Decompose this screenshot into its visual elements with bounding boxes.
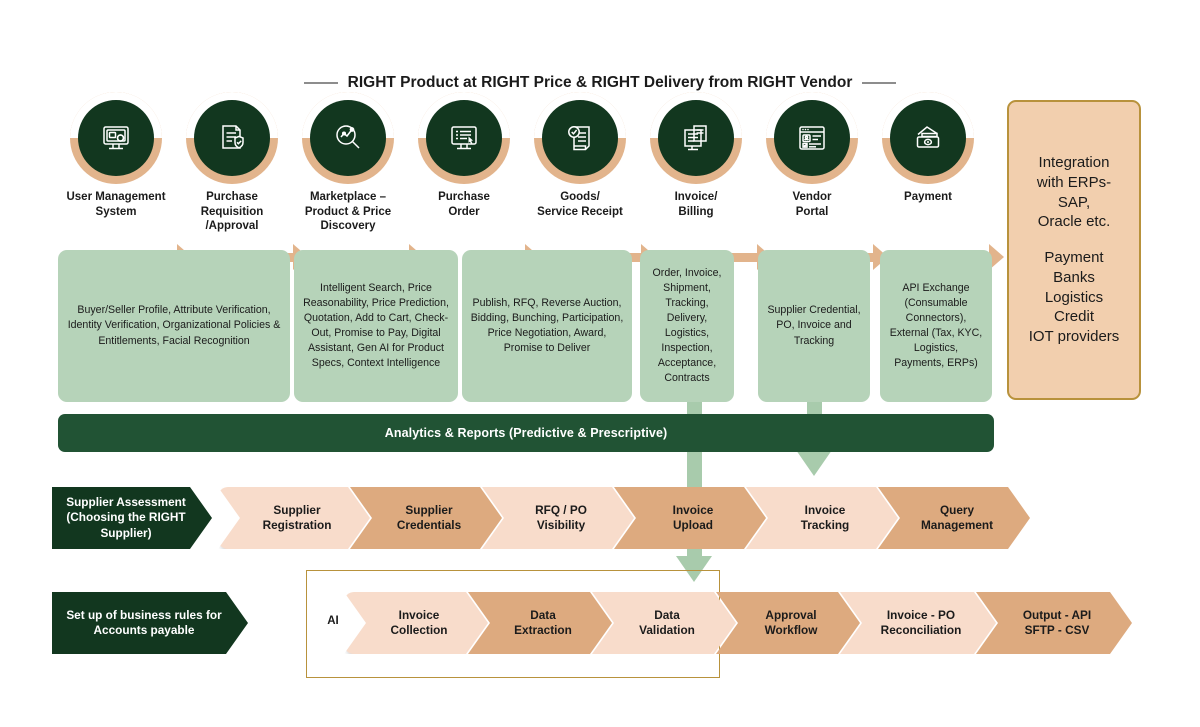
- chevron-label: ApprovalWorkflow: [716, 608, 860, 639]
- headline-banner: RIGHT Product at RIGHT Price & RIGHT Del…: [318, 72, 882, 94]
- chevron-label: SupplierRegistration: [218, 503, 370, 534]
- supplier-step-credentials[interactable]: SupplierCredentials: [350, 487, 502, 549]
- supplier-step-rfq-po-visibility[interactable]: RFQ / POVisibility: [482, 487, 634, 549]
- chevron-label: Invoice - POReconciliation: [840, 608, 996, 639]
- process-step-invoice-billing[interactable]: Invoice/Billing: [638, 100, 754, 219]
- integration-services-text: PaymentBanksLogisticsCreditIOT providers: [1029, 248, 1120, 347]
- chevron-label: RFQ / POVisibility: [482, 503, 634, 534]
- step-icon-disc: [426, 100, 502, 176]
- step-label: Invoice/Billing: [638, 190, 754, 219]
- process-step-goods-service-receipt[interactable]: Goods/Service Receipt: [522, 100, 638, 219]
- invoice-monitor-icon: [658, 100, 734, 176]
- checklist-shield-icon: [194, 100, 270, 176]
- process-step-payment[interactable]: Payment: [870, 100, 986, 205]
- portal-profile-icon: [774, 100, 850, 176]
- step-icon-disc: [774, 100, 850, 176]
- chevron-label: InvoiceTracking: [746, 503, 898, 534]
- step-label: PurchaseRequisition/Approval: [174, 190, 290, 234]
- banner-text: RIGHT Product at RIGHT Price & RIGHT Del…: [348, 74, 853, 92]
- capability-box-api-exchange: API Exchange (Consumable Connectors), Ex…: [880, 250, 992, 402]
- chevron-label: InvoiceUpload: [614, 503, 766, 534]
- process-step-vendor-portal[interactable]: VendorPortal: [754, 100, 870, 219]
- step-icon-disc: [78, 100, 154, 176]
- document-check-icon: [542, 100, 618, 176]
- capability-box-goods-receipt: Order, Invoice, Shipment, Tracking, Deli…: [640, 250, 734, 402]
- capability-box-purchase-order: Publish, RFQ, Reverse Auction, Bidding, …: [462, 250, 632, 402]
- monitor-user-icon: [78, 100, 154, 176]
- chevron-label: SupplierCredentials: [350, 503, 502, 534]
- ai-group-label: AI: [320, 615, 346, 627]
- process-step-row: User ManagementSystem Pu: [0, 100, 1000, 235]
- flow-arrowhead-to-invoice-tracking: [796, 450, 832, 476]
- step-label: Marketplace –Product & PriceDiscovery: [290, 190, 406, 234]
- ap-step-approval-workflow[interactable]: ApprovalWorkflow: [716, 592, 860, 654]
- cash-payment-icon: [890, 100, 966, 176]
- supplier-step-invoice-tracking[interactable]: InvoiceTracking: [746, 487, 898, 549]
- step-label: Goods/Service Receipt: [522, 190, 638, 219]
- step-label: PurchaseOrder: [406, 190, 522, 219]
- step-icon-disc: [542, 100, 618, 176]
- banner-rule-left: [304, 82, 338, 84]
- business-rules-header: Set up of business rules forAccounts pay…: [52, 592, 248, 654]
- monitor-order-icon: [426, 100, 502, 176]
- step-icon-disc: [310, 100, 386, 176]
- ap-step-output-api-sftp-csv[interactable]: Output - APISFTP - CSV: [976, 592, 1132, 654]
- step-label: User ManagementSystem: [58, 190, 174, 219]
- magnifier-chart-icon: [310, 100, 386, 176]
- capability-box-marketplace: Intelligent Search, Price Reasonability,…: [294, 250, 458, 402]
- integration-erp-text: Integrationwith ERPs-SAP,Oracle etc.: [1037, 153, 1111, 232]
- step-label: Payment: [870, 190, 986, 205]
- process-step-user-management-system[interactable]: User ManagementSystem: [58, 100, 174, 219]
- supplier-assessment-header-label: Supplier Assessment(Choosing the RIGHTSu…: [52, 495, 212, 541]
- analytics-bar-label: Analytics & Reports (Predictive & Prescr…: [385, 426, 668, 440]
- step-icon-disc: [890, 100, 966, 176]
- diagram-canvas: RIGHT Product at RIGHT Price & RIGHT Del…: [0, 0, 1200, 727]
- supplier-step-registration[interactable]: SupplierRegistration: [218, 487, 370, 549]
- step-icon-disc: [194, 100, 270, 176]
- step-icon-disc: [658, 100, 734, 176]
- process-step-purchase-requisition-approval[interactable]: PurchaseRequisition/Approval: [174, 100, 290, 234]
- ap-step-invoice-po-reconciliation[interactable]: Invoice - POReconciliation: [840, 592, 996, 654]
- step-label: VendorPortal: [754, 190, 870, 219]
- capability-box-vendor-portal: Supplier Credential, PO, Invoice and Tra…: [758, 250, 870, 402]
- business-rules-header-label: Set up of business rules forAccounts pay…: [52, 608, 248, 639]
- supplier-step-query-management[interactable]: QueryManagement: [878, 487, 1030, 549]
- supplier-assessment-header: Supplier Assessment(Choosing the RIGHTSu…: [52, 487, 212, 549]
- analytics-reports-bar[interactable]: Analytics & Reports (Predictive & Prescr…: [58, 414, 994, 452]
- process-step-marketplace-discovery[interactable]: Marketplace –Product & PriceDiscovery: [290, 100, 406, 234]
- capability-box-user-management: Buyer/Seller Profile, Attribute Verifica…: [58, 250, 290, 402]
- process-step-purchase-order[interactable]: PurchaseOrder: [406, 100, 522, 219]
- banner-rule-right: [862, 82, 896, 84]
- supplier-step-invoice-upload[interactable]: InvoiceUpload: [614, 487, 766, 549]
- chevron-label: QueryManagement: [878, 503, 1030, 534]
- integration-panel: Integrationwith ERPs-SAP,Oracle etc. Pay…: [1007, 100, 1141, 400]
- chevron-label: Output - APISFTP - CSV: [976, 608, 1132, 639]
